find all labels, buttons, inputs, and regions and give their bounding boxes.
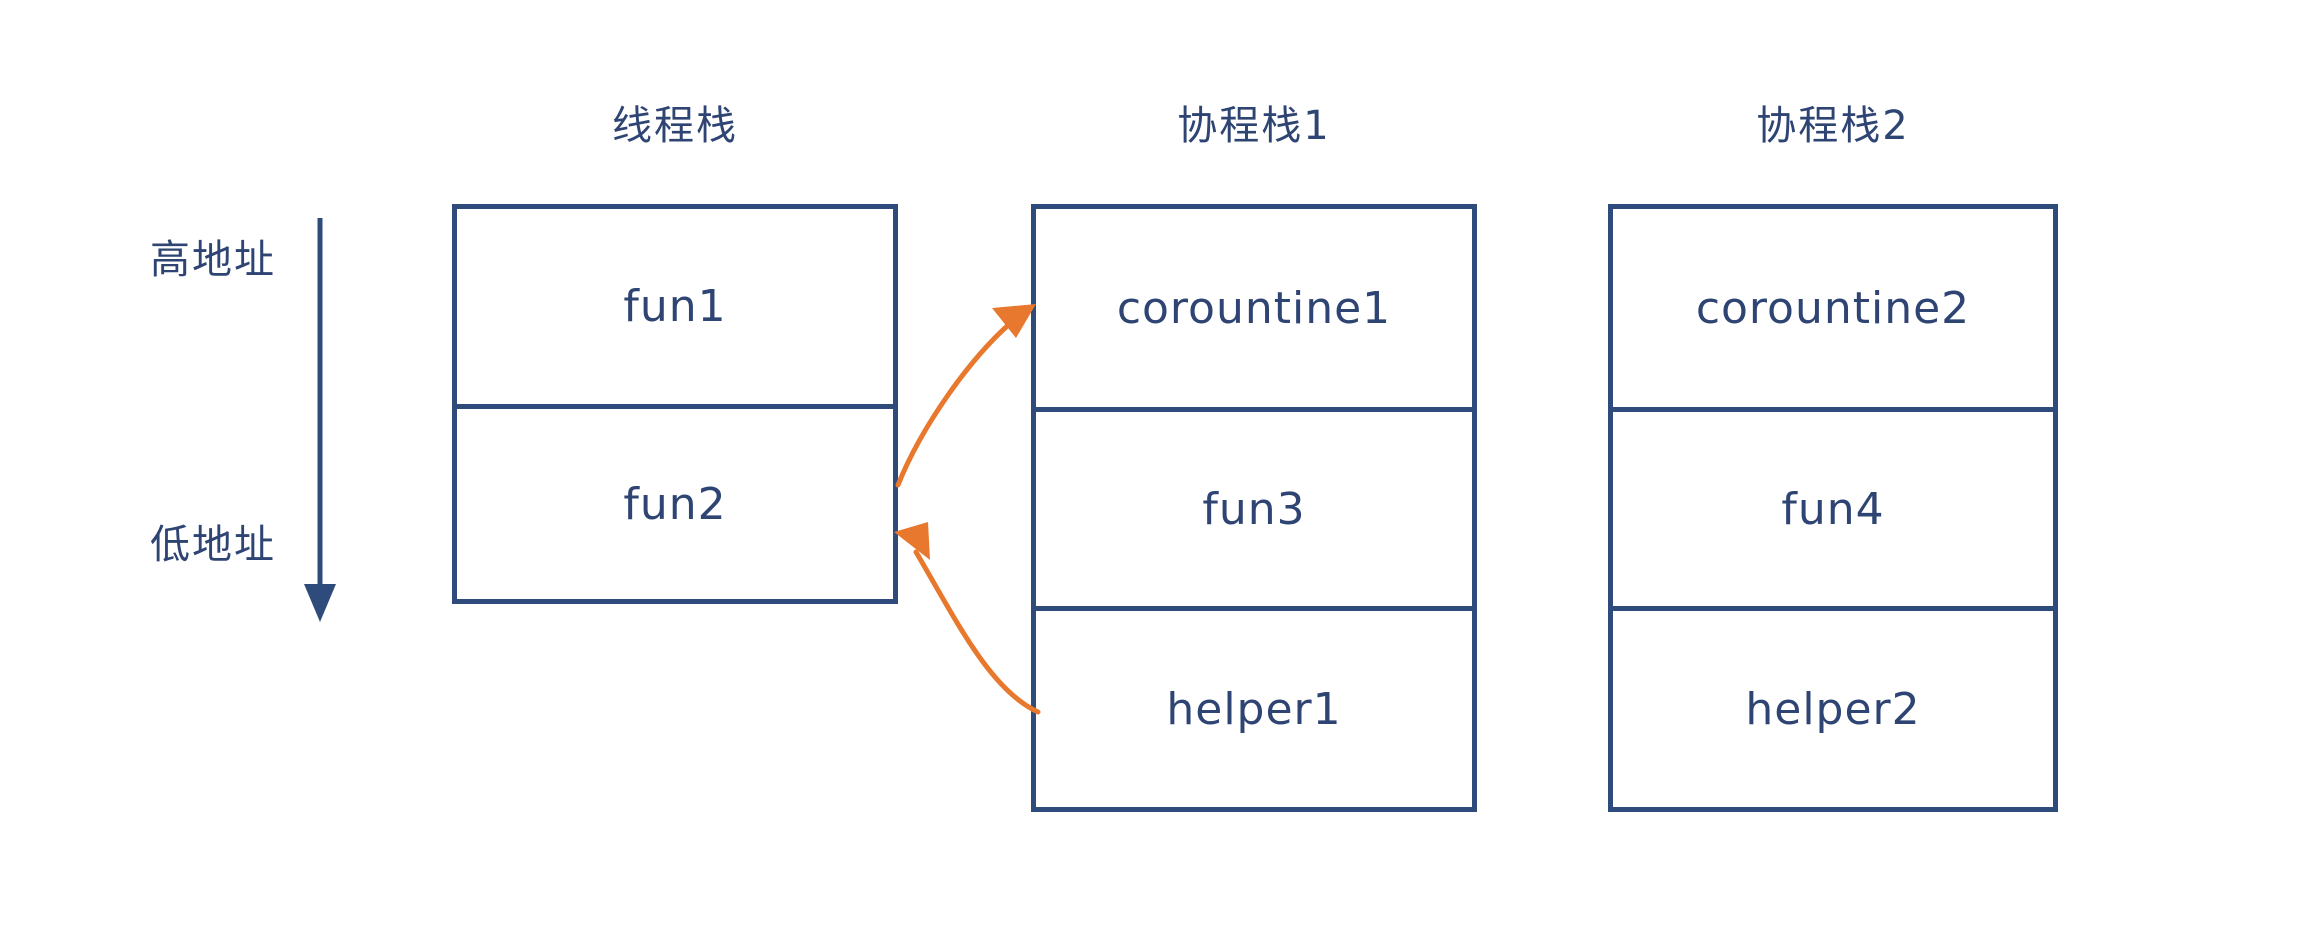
- stack-frame-fun4[interactable]: fun4: [1613, 407, 2053, 606]
- yield-arrow-icon: [894, 522, 1038, 712]
- stack-column-coroutine-1: 协程栈1 corountine1 fun3 helper1: [1031, 106, 1477, 812]
- stack-column-coroutine-2: 协程栈2 corountine2 fun4 helper2: [1608, 106, 2058, 812]
- stack-frame-helper2[interactable]: helper2: [1613, 606, 2053, 807]
- stack-frame-fun3[interactable]: fun3: [1036, 407, 1472, 606]
- stack-frames-coroutine-1: corountine1 fun3 helper1: [1031, 204, 1477, 812]
- resume-arrow-icon: [898, 304, 1036, 485]
- stack-column-thread: 线程栈 fun1 fun2: [452, 106, 898, 604]
- stack-frame-fun2[interactable]: fun2: [457, 404, 893, 599]
- high-address-label: 高地址: [150, 240, 276, 280]
- stack-frames-thread: fun1 fun2: [452, 204, 898, 604]
- diagram-canvas: 高地址 低地址 线程栈 fun1 fun2 协程栈1 corountine1 f…: [0, 0, 2298, 942]
- stack-frame-fun1[interactable]: fun1: [457, 209, 893, 404]
- stack-title-thread: 线程栈: [452, 106, 898, 146]
- stack-frame-helper1[interactable]: helper1: [1036, 606, 1472, 807]
- stack-title-coroutine-1: 协程栈1: [1031, 106, 1477, 146]
- low-address-label: 低地址: [150, 525, 276, 565]
- stack-frames-coroutine-2: corountine2 fun4 helper2: [1608, 204, 2058, 812]
- stack-frame-corountine1[interactable]: corountine1: [1036, 209, 1472, 407]
- address-direction-arrow-icon: [290, 210, 360, 630]
- stack-frame-corountine2[interactable]: corountine2: [1613, 209, 2053, 407]
- stack-title-coroutine-2: 协程栈2: [1608, 106, 2058, 146]
